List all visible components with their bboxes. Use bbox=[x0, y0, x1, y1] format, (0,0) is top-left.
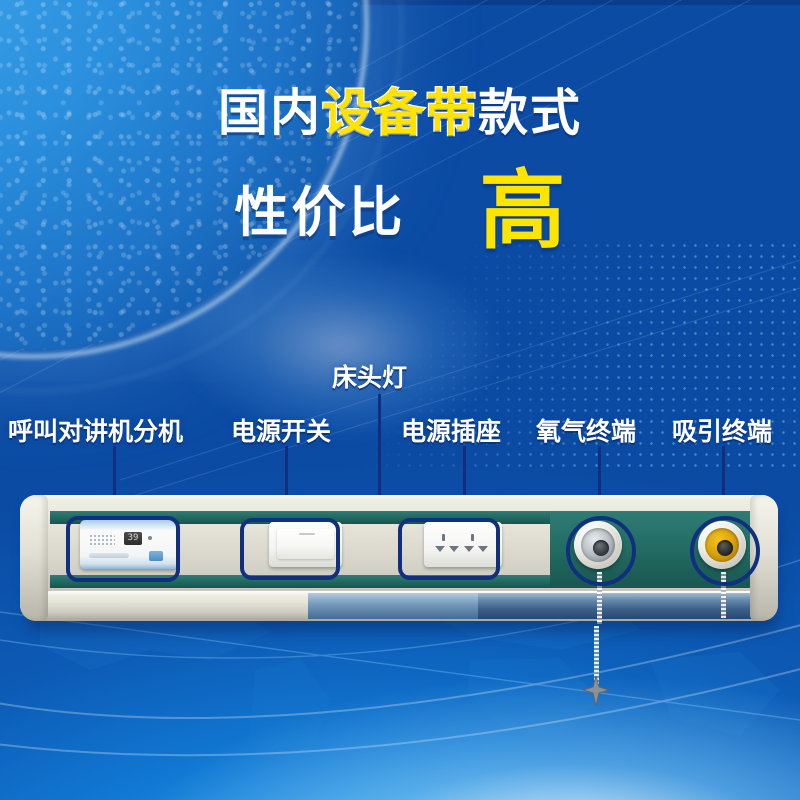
panel-end-cap-left bbox=[20, 495, 48, 621]
oxygen-connector-icon bbox=[583, 676, 609, 706]
promo-banner: 国内设备带款式 性价比高 呼叫对讲机分机 电源开关 床头灯 电源插座 氧气终端 … bbox=[0, 0, 800, 800]
callout-label-suction: 吸引终端 bbox=[672, 412, 772, 448]
panel-rail-blue-highlight bbox=[308, 593, 478, 619]
subheadline: 性价比高 bbox=[0, 168, 800, 247]
headline: 国内设备带款式 bbox=[0, 88, 800, 138]
subheadline-text: 性价比 bbox=[235, 168, 406, 247]
highlight-box-power-switch bbox=[240, 518, 340, 580]
callout-label-bed-lamp: 床头灯 bbox=[332, 358, 407, 394]
subheadline-emphasis: 高 bbox=[480, 173, 566, 250]
callout-label-intercom: 呼叫对讲机分机 bbox=[8, 412, 183, 448]
headline-part-2-highlight: 设备带 bbox=[322, 85, 478, 141]
highlight-circle-oxygen bbox=[566, 516, 636, 586]
highlight-box-power-outlet bbox=[398, 518, 500, 580]
callout-label-oxygen: 氧气终端 bbox=[536, 412, 636, 448]
highlight-box-intercom bbox=[66, 516, 180, 582]
headline-part-1: 国内 bbox=[218, 85, 322, 141]
callout-label-power-switch: 电源开关 bbox=[231, 412, 331, 448]
headline-part-3: 款式 bbox=[478, 85, 582, 141]
callout-label-power-outlet: 电源插座 bbox=[401, 412, 501, 448]
highlight-circle-suction bbox=[690, 516, 760, 586]
